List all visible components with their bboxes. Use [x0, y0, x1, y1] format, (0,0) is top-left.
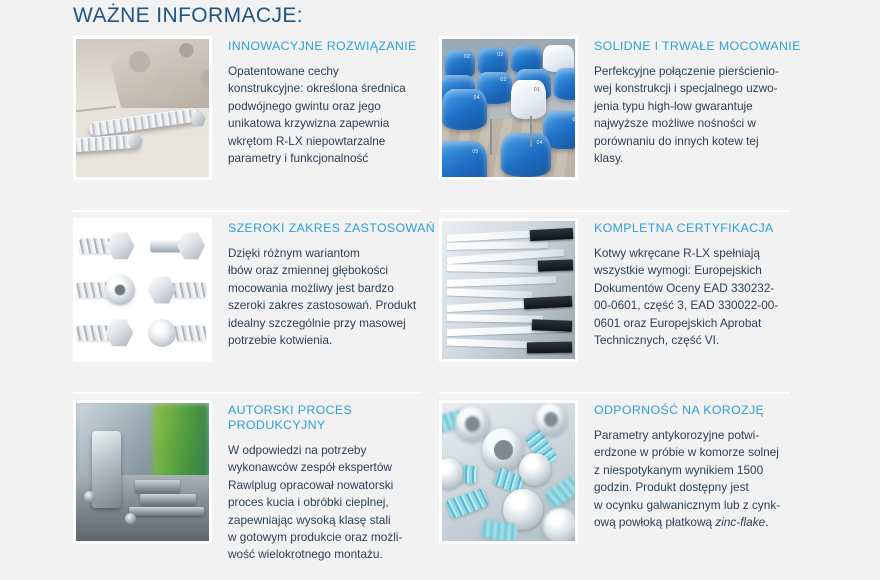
- stadium-seat: 04: [442, 89, 487, 130]
- feature-body: Opatentowane cechy konstrukcyjne: określ…: [228, 63, 439, 167]
- feature-text: SOLIDNE I TRWAŁE MOCOWANIE Perfekcyjne p…: [578, 36, 808, 167]
- binder-clip: [538, 259, 573, 271]
- stadium-seat-white-front: 01: [511, 80, 546, 119]
- screw-head-variants-photo: [76, 221, 209, 359]
- seat-leg: [530, 116, 532, 146]
- machine-rail: [129, 507, 203, 517]
- slab-seam-line: [76, 106, 116, 112]
- stadium-seats-photo: 02 02 02 01 04 03: [442, 39, 575, 177]
- seat-number: 05: [472, 149, 478, 155]
- feature-heading: AUTORSKI PROCES PRODUKCYJNY: [228, 403, 439, 433]
- screw-head-button: [148, 319, 176, 347]
- feature-heading: KOMPLETNA CERTYFIKACJA: [594, 221, 808, 236]
- stadium-seat: 02: [445, 50, 476, 78]
- feature-heading: ODPORNOŚĆ NA KOROZJĘ: [594, 403, 808, 418]
- feature-thumbnail: [439, 218, 578, 362]
- feature-block-kompletna-certyfikacja: KOMPLETNA CERTYFIKACJA Kotwy wkręcane R-…: [439, 218, 808, 400]
- torx-drive-icon: [115, 285, 126, 296]
- stadium-seat: 04: [501, 133, 552, 177]
- feature-heading: INNOWACYJNE ROZWIĄZANIE: [228, 39, 439, 54]
- screw-head-hex: [177, 232, 205, 260]
- document-sheet: [447, 241, 548, 250]
- bolt-head: [519, 453, 551, 486]
- feature-heading: SZEROKI ZAKRES ZASTOSOWAŃ: [228, 221, 439, 236]
- feature-thumbnail: [439, 400, 578, 544]
- screw-head-torx: [105, 275, 135, 305]
- binder-clip: [532, 320, 572, 332]
- document-stack-photo: [442, 221, 575, 359]
- document-sheet: [447, 276, 556, 287]
- screw-shank: [174, 325, 206, 340]
- feature-thumbnail: [73, 218, 212, 362]
- screw-shank: [172, 283, 207, 298]
- production-machine-photo: [76, 403, 209, 541]
- feature-body: Dzięki różnym wariantom łbów oraz zmienn…: [228, 245, 439, 349]
- feature-thumbnail: [73, 36, 212, 180]
- page-title: WAŻNE INFORMACJE:: [73, 4, 303, 28]
- seat-number: 02: [500, 77, 506, 83]
- bolt-head: [543, 508, 575, 541]
- feature-block-szeroki-zakres-zastosowan: SZEROKI ZAKRES ZASTOSOWAŃ Dzięki różnym …: [73, 218, 439, 400]
- screw-head-hex-socket: [148, 276, 176, 304]
- seat-number: 02: [497, 52, 503, 58]
- seat-number: 02: [464, 54, 470, 60]
- feature-body-corrosion: Parametry antykorozyjne potwi- erdzone w…: [594, 427, 808, 531]
- document-sheet: [447, 314, 543, 323]
- features-grid: INNOWACYJNE ROZWIĄZANIE Opatentowane cec…: [73, 36, 808, 580]
- document-sheet: [447, 264, 540, 273]
- bolt-thread: [445, 488, 489, 520]
- feature-text: SZEROKI ZAKRES ZASTOSOWAŃ Dzięki różnym …: [212, 218, 439, 349]
- seat-number: 04: [474, 95, 480, 101]
- feature-block-odpornosc-na-korozje: ODPORNOŚĆ NA KOROZJĘ Parametry antykoroz…: [439, 400, 808, 580]
- bolt-ring-head: [535, 403, 567, 436]
- machine-rail: [135, 480, 180, 492]
- stadium-seat: [554, 68, 575, 100]
- feature-text: ODPORNOŚĆ NA KOROZJĘ Parametry antykoroz…: [578, 400, 808, 531]
- bolt-ring-head: [482, 428, 525, 472]
- feature-thumbnail: 02 02 02 01 04 03: [439, 36, 578, 180]
- bolt-thread: [544, 475, 575, 509]
- binder-clip: [530, 228, 573, 241]
- feature-text: KOMPLETNA CERTYFIKACJA Kotwy wkręcane R-…: [578, 218, 808, 349]
- feature-text: INNOWACYJNE ROZWIĄZANIE Opatentowane cec…: [212, 36, 439, 167]
- machine-rail: [140, 494, 196, 505]
- binder-clip: [527, 342, 572, 354]
- concrete-screws-photo: [76, 39, 209, 177]
- stadium-seat: 02: [478, 47, 509, 75]
- screw-shank-upper: [89, 107, 199, 136]
- document-sheet: [447, 338, 535, 348]
- screw-head-hex-flange: [107, 232, 135, 260]
- screw-head-hex-plain: [105, 319, 133, 347]
- feature-body: Perfekcyjne połączenie pierścienio- wej …: [594, 63, 808, 167]
- document-sheet: [447, 289, 532, 299]
- feature-block-innowacyjne-rozwiazanie: INNOWACYJNE ROZWIĄZANIE Opatentowane cec…: [73, 36, 439, 218]
- feature-block-solidne-i-trwale-mocowanie: 02 02 02 01 04 03: [439, 36, 808, 218]
- feature-heading: SOLIDNE I TRWAŁE MOCOWANIE: [594, 39, 808, 54]
- seat-number: 03: [572, 117, 575, 123]
- binder-clip: [524, 296, 572, 309]
- feature-body: Kotwy wkręcane R-LX spełniają wszystkie …: [594, 245, 808, 349]
- seat-number: 04: [537, 140, 543, 146]
- feature-block-autorski-proces-produkcyjny: AUTORSKI PROCES PRODUKCYJNY W odpowiedzi…: [73, 400, 439, 580]
- feature-body: W odpowiedzi na potrzeby wykonawców zesp…: [228, 442, 439, 564]
- bolt-ring-head: [455, 406, 490, 442]
- forging-tool: [92, 431, 121, 508]
- stadium-seat: 05: [442, 141, 487, 177]
- zinc-flake-bolts-photo: [442, 403, 575, 541]
- feature-thumbnail: [73, 400, 212, 544]
- bolt-head: [442, 458, 463, 488]
- concrete-block-shape: [111, 39, 209, 108]
- feature-text: AUTORSKI PROCES PRODUKCYJNY W odpowiedzi…: [212, 400, 439, 564]
- seat-leg: [490, 119, 492, 155]
- seat-number: 01: [534, 87, 540, 93]
